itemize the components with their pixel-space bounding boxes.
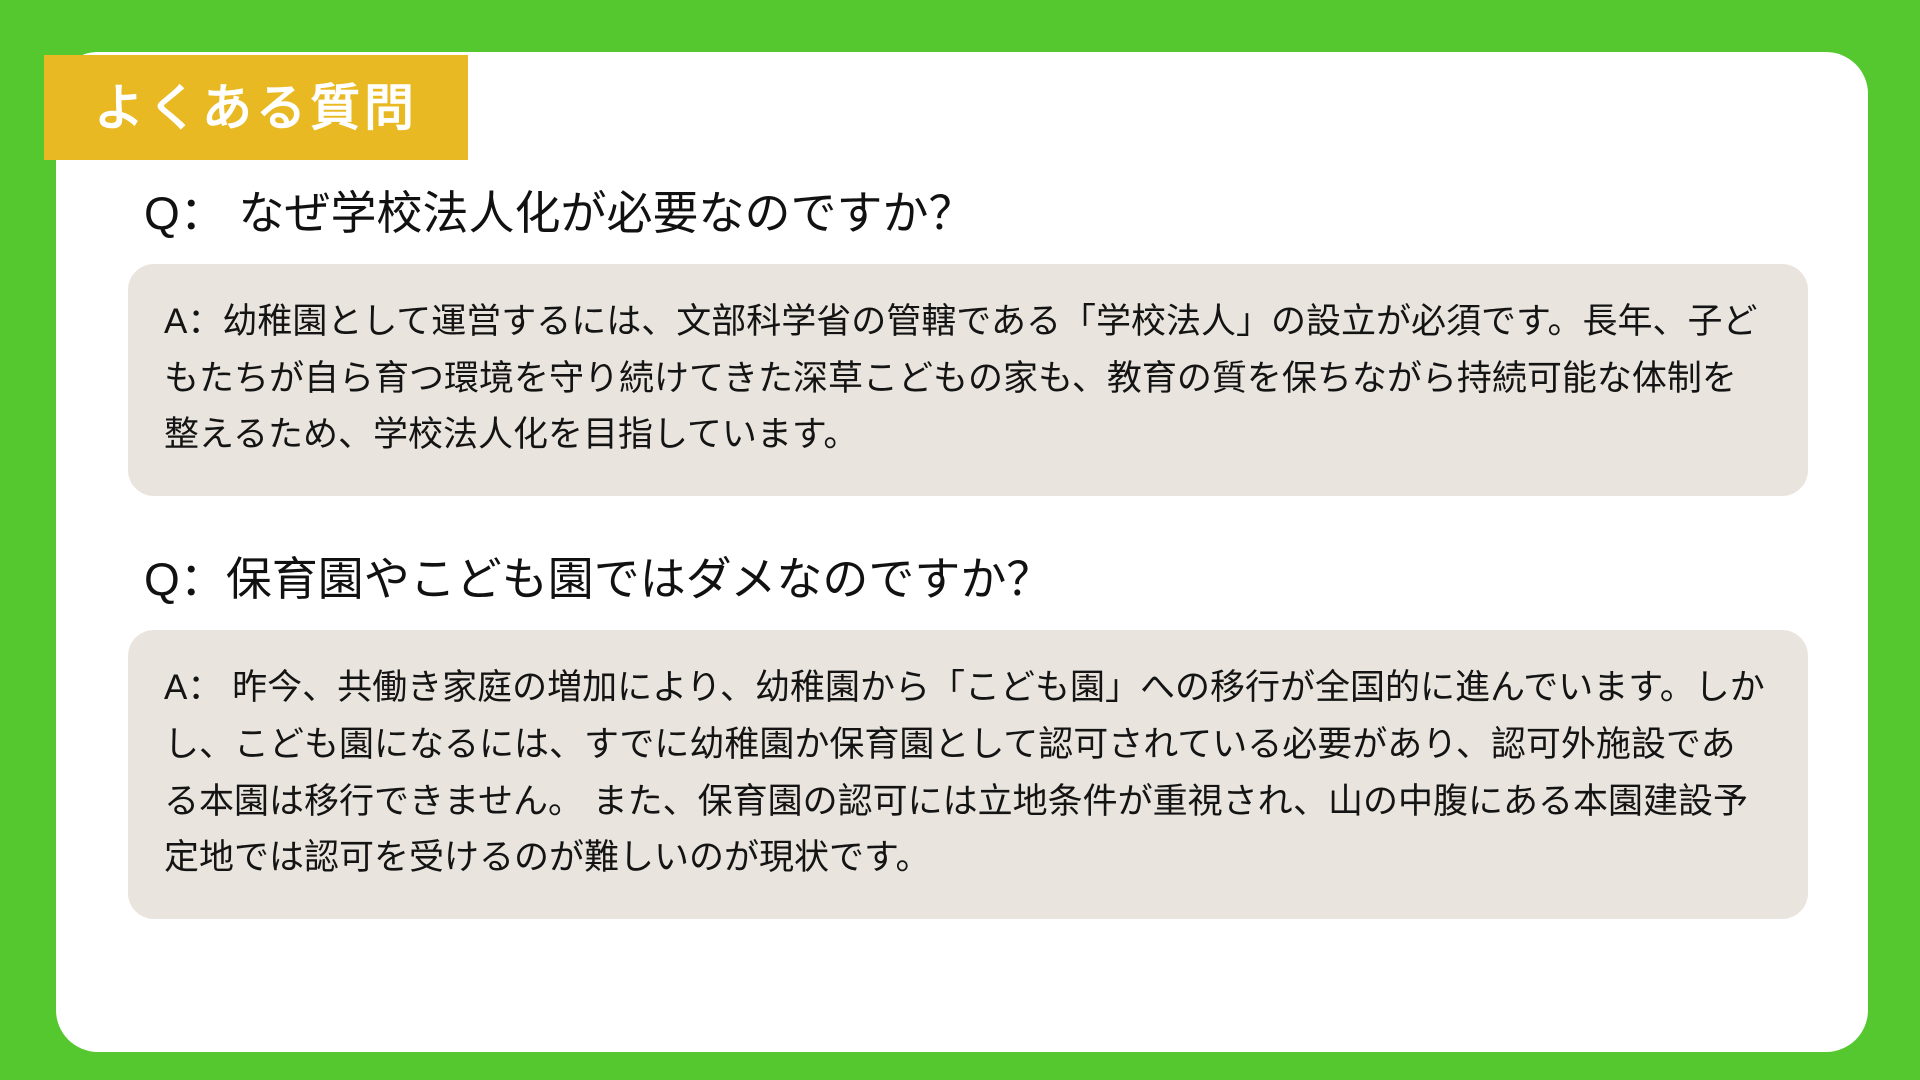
faq-item-2: Q：保育園やこども園ではダメなのですか？ A： 昨今、共働き家庭の増加により、幼…	[128, 526, 1808, 919]
faq-question-2: Q：保育園やこども園ではダメなのですか？	[128, 526, 1808, 616]
section-badge: よくある質問	[44, 55, 468, 160]
section-badge-label: よくある質問	[94, 83, 418, 133]
faq-answer-box-1: A：幼稚園として運営するには、文部科学省の管轄である「学校法人」の設立が必須です…	[128, 264, 1808, 496]
faq-answer-1: A：幼稚園として運営するには、文部科学省の管轄である「学校法人」の設立が必須です…	[164, 294, 1768, 464]
faq-answer-box-2: A： 昨今、共働き家庭の増加により、幼稚園から「こども園」への移行が全国的に進ん…	[128, 630, 1808, 919]
faq-answer-2: A： 昨今、共働き家庭の増加により、幼稚園から「こども園」への移行が全国的に進ん…	[164, 660, 1768, 887]
faq-question-1: Q： なぜ学校法人化が必要なのですか？	[128, 182, 1808, 250]
faq-item-1: Q： なぜ学校法人化が必要なのですか？ A：幼稚園として運営するには、文部科学省…	[128, 182, 1808, 496]
faq-content: Q： なぜ学校法人化が必要なのですか？ A：幼稚園として運営するには、文部科学省…	[56, 52, 1868, 1052]
